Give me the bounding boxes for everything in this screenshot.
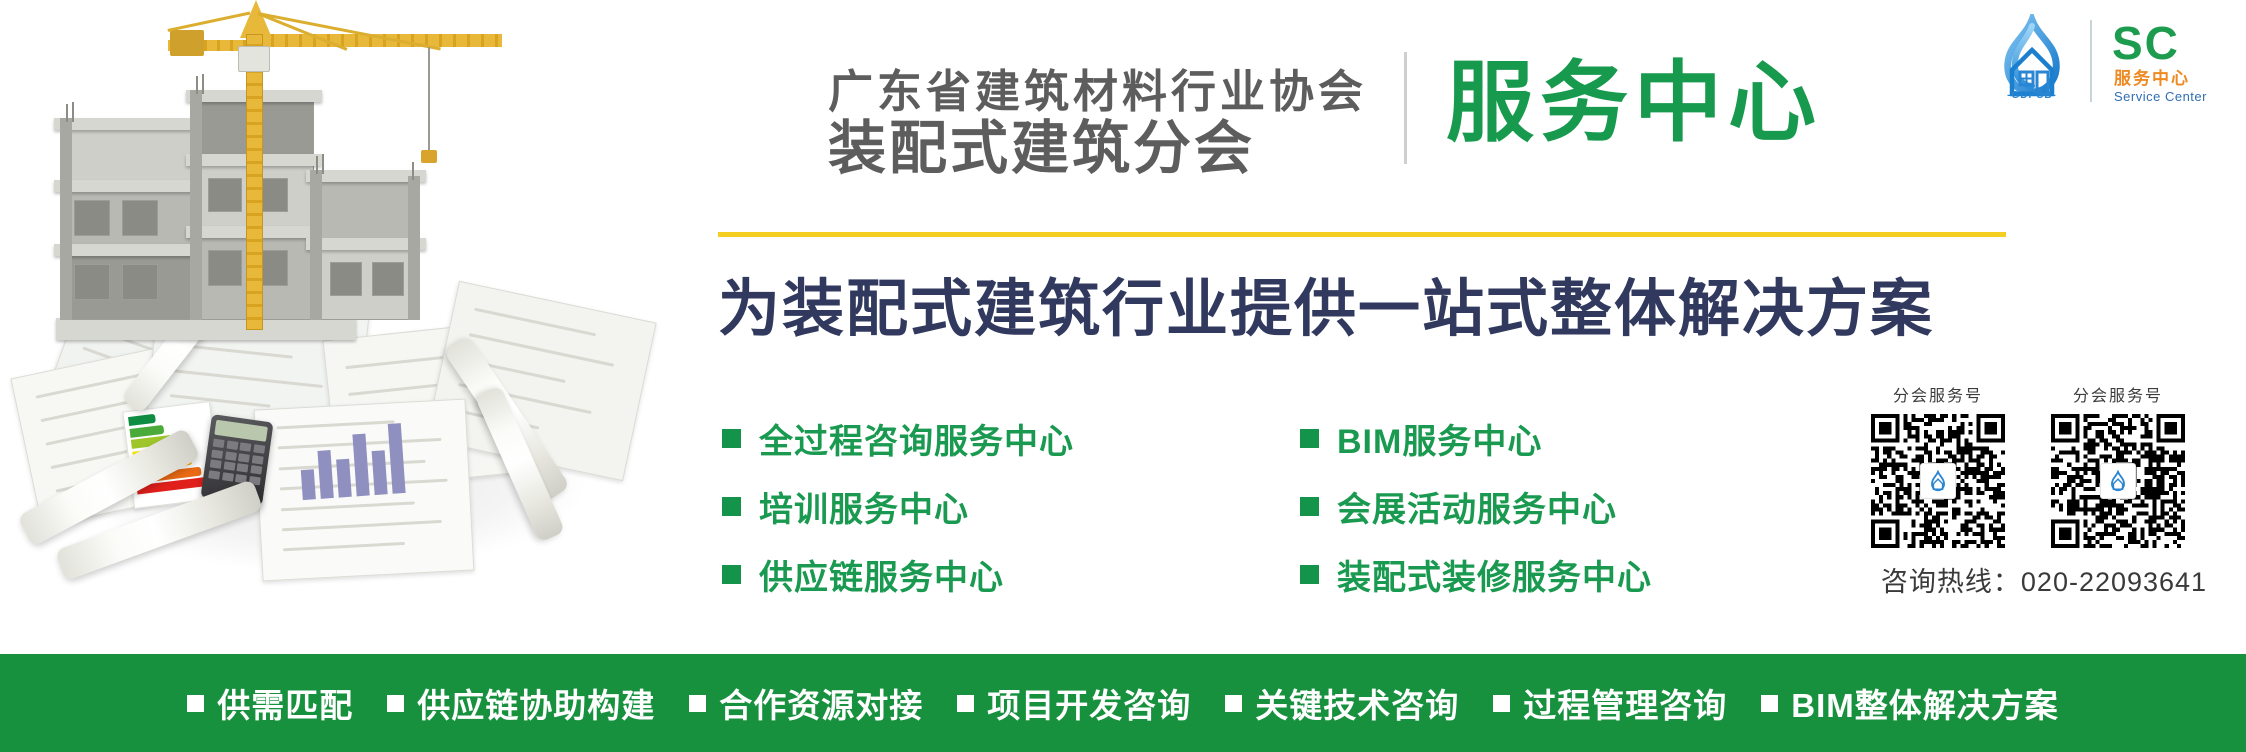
footer-tag-label: 供应链协助构建: [417, 679, 655, 727]
qr-cell[interactable]: 分会服务号: [2042, 382, 2194, 548]
footer-tag[interactable]: 合作资源对接: [689, 679, 923, 727]
qr-code-image[interactable]: [1871, 414, 2005, 548]
footer-tag[interactable]: 供需匹配: [187, 679, 353, 727]
service-list-left: 全过程咨询服务中心 培训服务中心 供应链服务中心: [722, 404, 1074, 608]
service-item[interactable]: 装配式装修服务中心: [1300, 540, 1652, 608]
service-center-title: 服务中心: [1446, 52, 1822, 153]
footer-tag-label: 合作资源对接: [719, 679, 923, 727]
service-item[interactable]: 培训服务中心: [722, 472, 1074, 540]
headline-divider: [1404, 52, 1407, 164]
square-bullet-icon: [1225, 695, 1242, 712]
square-bullet-icon: [689, 695, 706, 712]
footer-tag[interactable]: 项目开发咨询: [957, 679, 1191, 727]
service-item[interactable]: BIM服务中心: [1300, 404, 1652, 472]
square-bullet-icon: [1300, 565, 1319, 584]
qr-contact-block: 分会服务号 分会服务号: [1862, 382, 2226, 599]
footer-tag-label: 关键技术咨询: [1255, 679, 1459, 727]
service-list-right: BIM服务中心 会展活动服务中心 装配式装修服务中心: [1300, 404, 1652, 608]
square-bullet-icon: [957, 695, 974, 712]
qr-center-logo-icon: [1920, 463, 1956, 499]
footer-tag[interactable]: 关键技术咨询: [1225, 679, 1459, 727]
square-bullet-icon: [722, 429, 741, 448]
service-item-label: 供应链服务中心: [759, 550, 1004, 599]
service-item-label: 会展活动服务中心: [1337, 482, 1617, 531]
square-bullet-icon: [722, 565, 741, 584]
brand-logo[interactable]: -GDPCB- SC 服务中心 Service Center: [1986, 14, 2226, 106]
qr-center-logo-icon: [2100, 463, 2136, 499]
square-bullet-icon: [722, 497, 741, 516]
service-item[interactable]: 会展活动服务中心: [1300, 472, 1652, 540]
square-bullet-icon: [387, 695, 404, 712]
footer-tag-label: 过程管理咨询: [1523, 679, 1727, 727]
qr-code-image[interactable]: [2051, 414, 2185, 548]
logo-english-label: Service Center: [2114, 90, 2207, 103]
service-item[interactable]: 全过程咨询服务中心: [722, 404, 1074, 472]
hero-illustration: [0, 0, 700, 648]
slogan: 为装配式建筑行业提供一站式整体解决方案: [718, 258, 1934, 348]
square-bullet-icon: [187, 695, 204, 712]
footer-tag[interactable]: BIM整体解决方案: [1761, 679, 2059, 727]
service-item-label: 装配式装修服务中心: [1337, 550, 1652, 599]
qr-cell[interactable]: 分会服务号: [1862, 382, 2014, 548]
association-name-line1: 广东省建筑材料行业协会: [828, 64, 1367, 119]
qr-label: 分会服务号: [1862, 382, 2014, 406]
service-item-label: BIM服务中心: [1337, 414, 1542, 463]
logo-divider: [2090, 20, 2092, 102]
square-bullet-icon: [1761, 695, 1778, 712]
square-bullet-icon: [1300, 429, 1319, 448]
service-item[interactable]: 供应链服务中心: [722, 540, 1074, 608]
footer-tag-label: 供需匹配: [217, 679, 353, 727]
hotline-text: 咨询热线：020-22093641: [1862, 560, 2226, 599]
footer-tag-label: 项目开发咨询: [987, 679, 1191, 727]
footer-tag[interactable]: 供应链协助构建: [387, 679, 655, 727]
yellow-divider: [718, 232, 2006, 237]
association-name: 广东省建筑材料行业协会 装配式建筑分会: [828, 64, 1367, 180]
footer-tag[interactable]: 过程管理咨询: [1493, 679, 1727, 727]
association-name-line2: 装配式建筑分会: [828, 119, 1367, 180]
logo-chinese-label: 服务中心: [2114, 70, 2190, 87]
service-item-label: 全过程咨询服务中心: [759, 414, 1074, 463]
footer-tag-label: BIM整体解决方案: [1791, 679, 2059, 727]
qr-label: 分会服务号: [2042, 382, 2194, 406]
mini-bar-chart: [297, 414, 422, 500]
square-bullet-icon: [1300, 497, 1319, 516]
square-bullet-icon: [1493, 695, 1510, 712]
service-item-label: 培训服务中心: [759, 482, 969, 531]
logo-mark-caption: -GDPCB-: [1988, 90, 2076, 101]
logo-initials: SC: [2112, 20, 2180, 66]
footer-tag-bar: 供需匹配 供应链协助构建 合作资源对接 项目开发咨询 关键技术咨询 过程管理咨询…: [0, 654, 2246, 752]
promotional-banner: 广东省建筑材料行业协会 装配式建筑分会 服务中心 为装配式建筑行业提供一站式整体…: [0, 0, 2246, 752]
